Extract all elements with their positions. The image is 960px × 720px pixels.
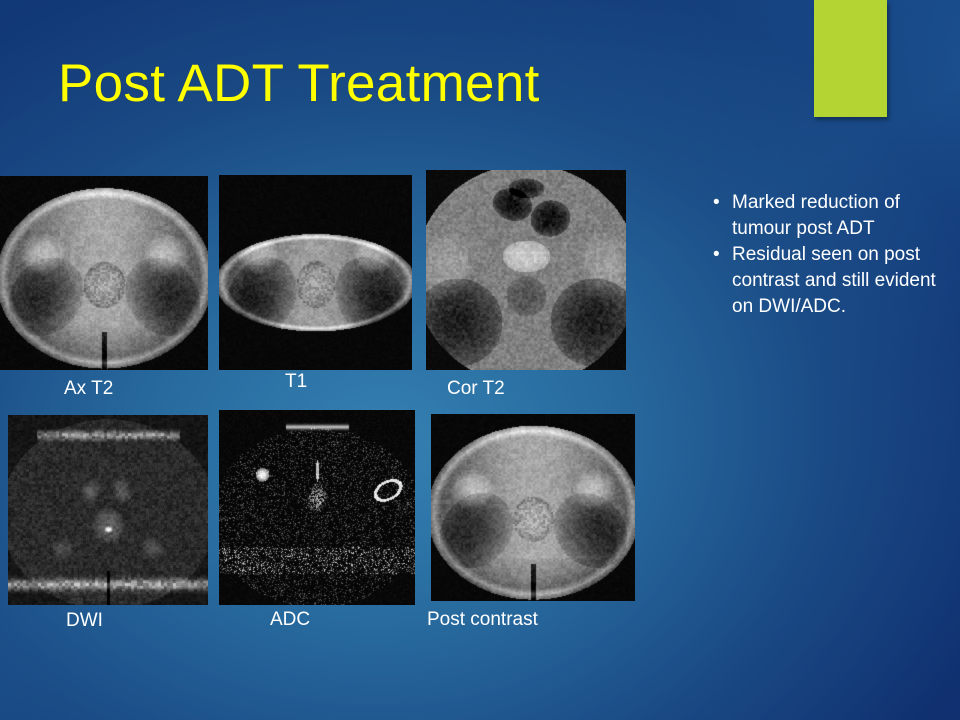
list-item: • Residual seen on post contrast and sti… xyxy=(710,242,950,320)
mri-image-ax-t2[interactable] xyxy=(0,176,208,370)
mri-canvas-post-contrast xyxy=(431,414,635,601)
bullet-text: Residual seen on post contrast and still… xyxy=(732,242,950,320)
caption-post-contrast: Post contrast xyxy=(427,609,538,631)
mri-image-t1[interactable] xyxy=(219,175,412,370)
mri-image-adc[interactable] xyxy=(219,410,415,605)
accent-block-green xyxy=(814,0,887,117)
mri-canvas-adc xyxy=(219,410,415,605)
caption-dwi: DWI xyxy=(66,610,103,632)
slide-canvas: Post ADT Treatment Ax T2 T1 Cor T2 DWI A… xyxy=(0,0,960,720)
page-title: Post ADT Treatment xyxy=(58,54,540,114)
mri-image-cor-t2[interactable] xyxy=(426,170,626,370)
caption-cor-t2: Cor T2 xyxy=(447,378,505,400)
mri-image-dwi[interactable] xyxy=(8,415,208,605)
bullet-list: • Marked reduction of tumour post ADT • … xyxy=(710,190,950,320)
bullet-marker-icon: • xyxy=(710,190,732,216)
mri-canvas-ax-t2 xyxy=(0,176,208,370)
mri-canvas-t1 xyxy=(219,175,412,370)
mri-canvas-dwi xyxy=(8,415,208,605)
caption-ax-t2: Ax T2 xyxy=(64,378,113,400)
mri-image-post-contrast[interactable] xyxy=(431,414,635,601)
caption-adc: ADC xyxy=(270,609,310,631)
bullet-marker-icon: • xyxy=(710,242,732,268)
bullet-text: Marked reduction of tumour post ADT xyxy=(732,190,950,242)
caption-t1: T1 xyxy=(285,371,307,393)
mri-canvas-cor-t2 xyxy=(426,170,626,370)
list-item: • Marked reduction of tumour post ADT xyxy=(710,190,950,242)
